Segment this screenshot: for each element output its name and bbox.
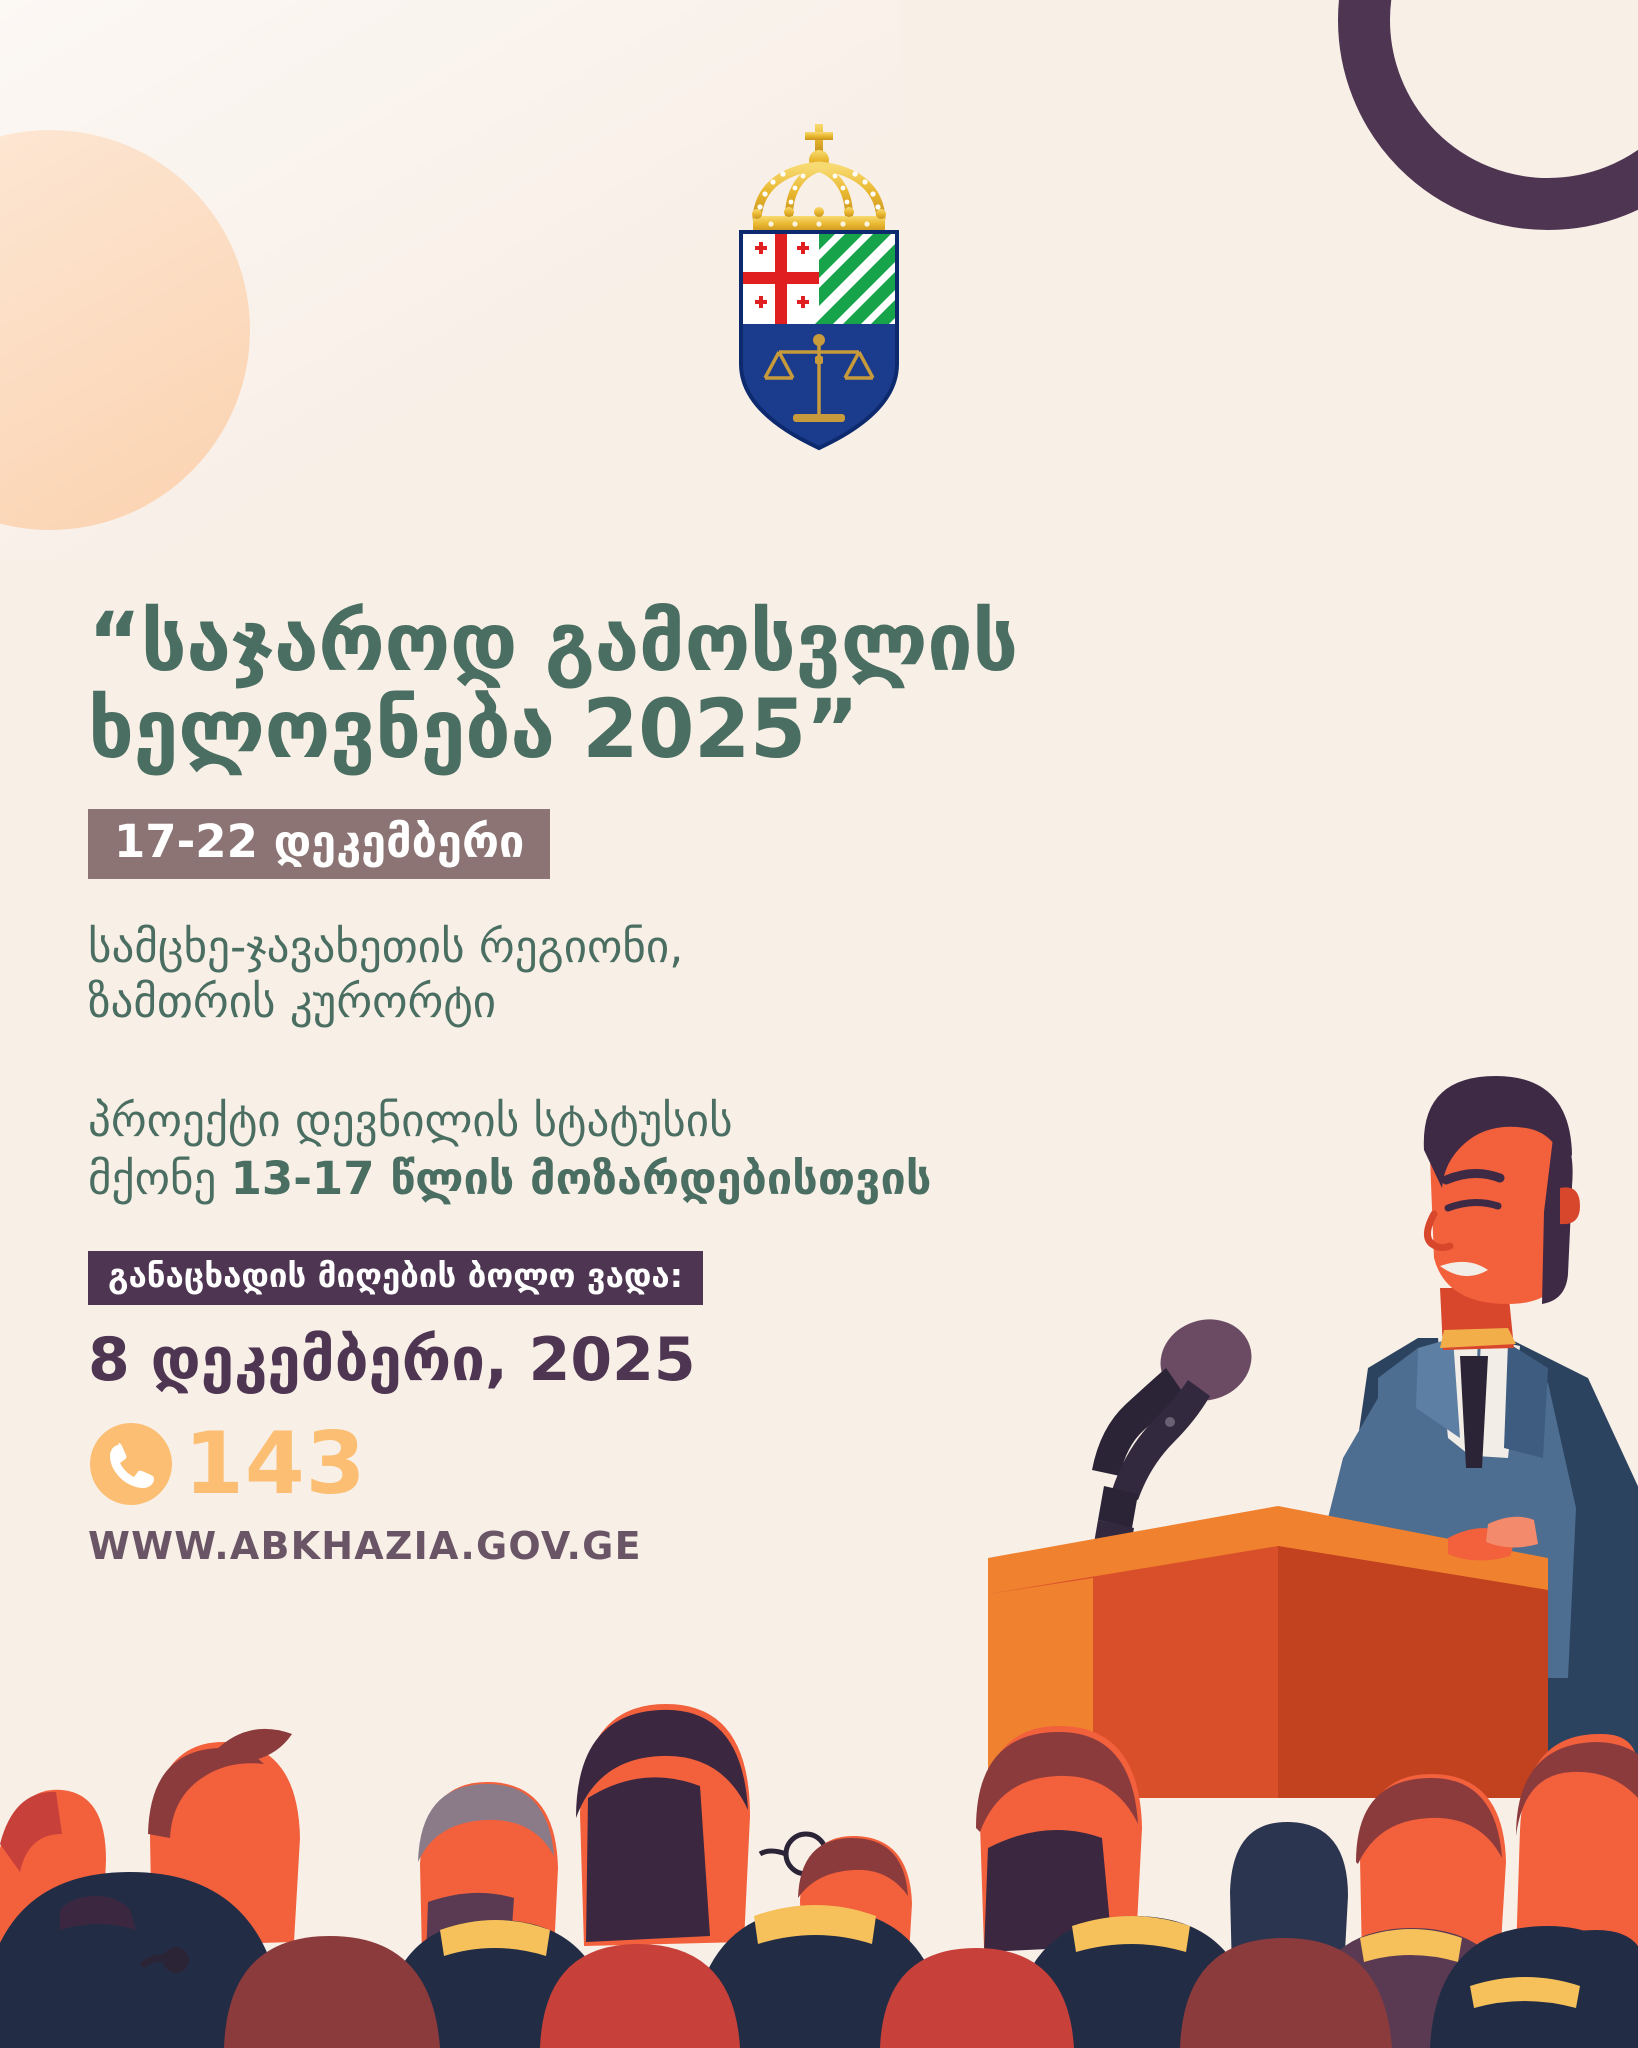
peach-circle-decoration — [0, 130, 250, 530]
project-desc-age-range: 13-17 წლის მოზარდებისთვის — [231, 1152, 932, 1205]
project-desc-line2-prefix: მქონე — [88, 1152, 231, 1205]
poster-root: “საჯაროდ გამოსვლის ხელოვნება 2025” 17-22… — [0, 0, 1638, 2048]
coat-of-arms-emblem — [719, 112, 919, 452]
location-text: სამცხე-ჯავახეთის რეგიონი, ზამთრის კურორტ… — [88, 919, 1148, 1031]
deadline-date: 8 დეკემბერი, 2025 — [88, 1327, 1148, 1393]
date-badge: 17-22 დეკემბერი — [88, 809, 550, 879]
poster-content: “საჯაროდ გამოსვლის ხელოვნება 2025” 17-22… — [88, 600, 1148, 1565]
contact-phone-row[interactable]: 143 — [88, 1421, 1148, 1507]
crown-icon — [752, 124, 886, 232]
shield — [741, 232, 897, 448]
website-url[interactable]: WWW.ABKHAZIA.GOV.GE — [88, 1527, 1148, 1565]
speaker-head — [1424, 1076, 1580, 1304]
page-title: “საჯაროდ გამოსვლის ხელოვნება 2025” — [88, 600, 1148, 775]
project-desc-line1: პროექტი დევნილის სტატუსის — [88, 1094, 733, 1147]
project-description: პროექტი დევნილის სტატუსის მქონე 13-17 წლ… — [88, 1092, 1148, 1207]
phone-number: 143 — [184, 1421, 367, 1507]
purple-ring-decoration — [1338, 0, 1638, 230]
deadline-label-badge: განაცხადის მიღების ბოლო ვადა: — [88, 1251, 703, 1305]
crowd-illustration — [0, 1648, 1638, 2048]
phone-icon — [88, 1421, 174, 1507]
